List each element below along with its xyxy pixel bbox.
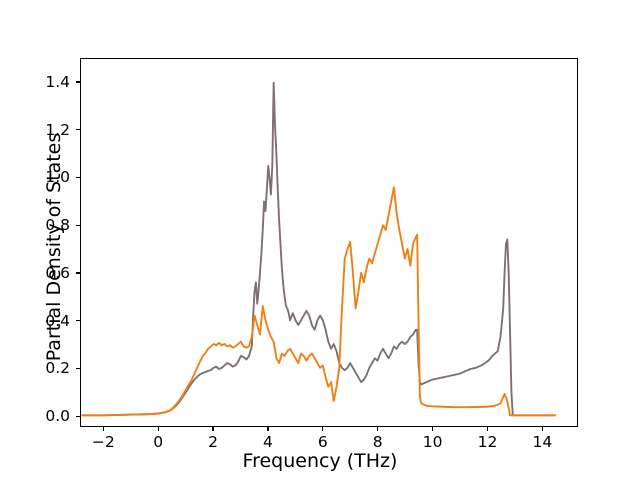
y-tick-mark (76, 368, 80, 369)
x-tick-label: 12 (478, 433, 498, 451)
x-tick-label: 8 (373, 433, 383, 451)
chart-figure: −2024681012140.00.20.40.60.81.01.21.4 Fr… (0, 0, 640, 480)
series-group (82, 83, 555, 416)
x-tick-mark (212, 427, 213, 431)
plot-svg (81, 59, 577, 426)
x-tick-label: −2 (92, 433, 115, 451)
y-tick-mark (76, 225, 80, 226)
x-tick-mark (103, 427, 104, 431)
x-tick-label: 4 (263, 433, 273, 451)
x-tick-mark (377, 427, 378, 431)
x-tick-mark (267, 427, 268, 431)
x-tick-label: 0 (153, 433, 163, 451)
x-tick-mark (158, 427, 159, 431)
y-tick-mark (76, 81, 80, 82)
y-tick-mark (76, 272, 80, 273)
x-tick-mark (322, 427, 323, 431)
y-tick-mark (76, 416, 80, 417)
x-tick-label: 10 (423, 433, 443, 451)
x-tick-mark (542, 427, 543, 431)
series-line-orange-species (82, 187, 555, 415)
x-tick-label: 14 (532, 433, 552, 451)
x-tick-label: 2 (208, 433, 218, 451)
x-axis-label: Frequency (THz) (0, 450, 640, 472)
y-tick-mark (76, 320, 80, 321)
y-tick-mark (76, 177, 80, 178)
x-tick-label: 6 (318, 433, 328, 451)
x-tick-mark (487, 427, 488, 431)
x-tick-mark (432, 427, 433, 431)
y-tick-mark (76, 129, 80, 130)
plot-area (80, 58, 578, 427)
y-axis-label: Partial Density of States (43, 62, 65, 432)
